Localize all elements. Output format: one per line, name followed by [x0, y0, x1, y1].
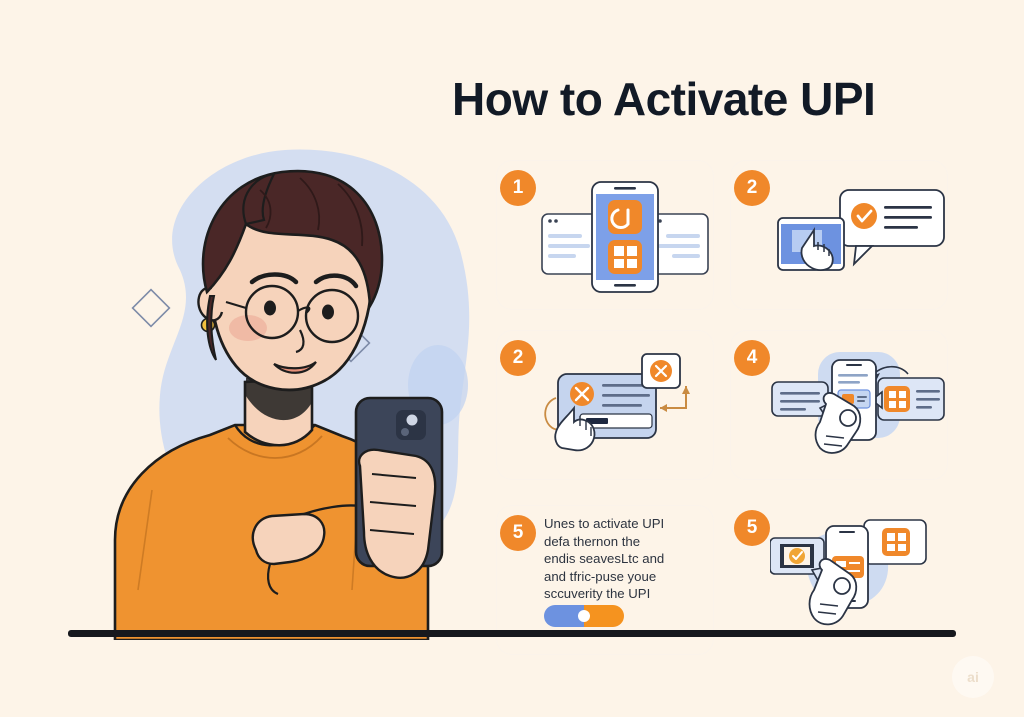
text-line	[602, 404, 642, 407]
step-card-2[interactable]: 2	[730, 160, 948, 310]
text-line	[672, 254, 700, 258]
text-line	[857, 400, 865, 402]
grid-cell	[889, 401, 896, 408]
step-illustration-1	[536, 172, 714, 300]
step-card-4[interactable]: 4	[730, 330, 948, 480]
thumb-icon	[840, 410, 856, 426]
grid-cell	[899, 391, 906, 398]
step-card-3[interactable]: 2	[496, 330, 714, 480]
steps-grid: 1	[496, 160, 966, 660]
step-description-text: Unes to activate UPI defa thernon the en…	[544, 515, 712, 603]
grid-cell	[887, 533, 895, 541]
grid-cell	[898, 544, 906, 551]
text-line	[658, 244, 700, 248]
description-line: endis seavesLtc and	[544, 550, 712, 568]
ground-line	[68, 630, 956, 637]
phone-speaker	[614, 187, 636, 190]
thumb-icon	[834, 578, 850, 594]
text-line	[916, 406, 932, 409]
diamond-icon	[133, 290, 170, 327]
step-card-1[interactable]: 1	[496, 160, 714, 310]
arrow-head-icon	[660, 404, 667, 412]
step-number-badge: 2	[500, 340, 536, 376]
grid-cell	[614, 246, 624, 256]
speech-bubble-tail	[854, 246, 872, 264]
hero-illustration	[60, 120, 480, 640]
camera-lens-icon	[407, 415, 418, 426]
window-dot	[548, 219, 552, 223]
grid-cell	[627, 246, 637, 256]
step-illustration-2	[770, 172, 948, 300]
text-line	[548, 254, 576, 258]
page-title: How to Activate UPI	[452, 72, 875, 126]
text-line	[602, 394, 650, 397]
description-line: Unes to activate UPI	[544, 515, 712, 533]
step-number-badge: 5	[734, 510, 770, 546]
description-line: and tfric-puse youe	[544, 568, 712, 586]
step-number-badge: 4	[734, 340, 770, 376]
app-icon-grid	[884, 386, 910, 412]
text-line	[884, 206, 932, 209]
text-line	[548, 234, 582, 238]
text-line	[916, 398, 940, 401]
grid-cell	[899, 401, 906, 408]
grid-cell	[889, 391, 896, 398]
text-line	[857, 396, 867, 398]
eye-right	[322, 305, 334, 320]
text-line	[884, 226, 918, 229]
phone-speaker	[839, 531, 855, 533]
step-illustration-4	[770, 342, 948, 470]
activation-toggle[interactable]	[544, 605, 624, 627]
step-illustration-3	[536, 342, 714, 470]
text-line	[548, 244, 590, 248]
watermark: ai	[952, 656, 994, 698]
text-line	[884, 216, 932, 219]
step-number-badge: 2	[734, 170, 770, 206]
step-illustration-6	[770, 512, 948, 640]
hand-right	[359, 450, 435, 578]
step-number-badge: 5	[500, 515, 536, 551]
step-card-6[interactable]: 5	[730, 500, 948, 650]
chat-bubble-left	[772, 382, 828, 416]
description-line: sccuverity the UPI	[544, 585, 712, 603]
text-line	[780, 408, 806, 411]
phone-speaker	[846, 364, 862, 366]
grid-cell	[898, 533, 906, 541]
grid-cell	[887, 544, 895, 551]
flow-arrow	[660, 386, 686, 408]
text-line	[666, 234, 700, 238]
text-line	[780, 400, 820, 403]
text-line	[838, 374, 868, 377]
text-line	[916, 390, 940, 393]
check-badge-icon	[789, 548, 805, 564]
app-icon-grid	[882, 528, 910, 556]
window-dot	[554, 219, 558, 223]
check-badge-icon	[851, 203, 877, 229]
grid-cell	[614, 259, 624, 268]
phone-home-bar	[614, 284, 636, 287]
arrow-head-icon	[682, 386, 690, 394]
infographic-canvas: How to Activate UPI	[0, 0, 1024, 717]
text-line	[780, 392, 820, 395]
camera-lens-icon	[401, 428, 409, 436]
step-number-badge: 1	[500, 170, 536, 206]
description-line: defa thernon the	[544, 533, 712, 551]
grid-cell	[627, 259, 637, 268]
text-line	[838, 381, 860, 384]
app-icon-grid	[608, 240, 642, 274]
eye-left	[264, 301, 276, 316]
toggle-knob	[578, 610, 590, 622]
card-line	[849, 562, 860, 564]
